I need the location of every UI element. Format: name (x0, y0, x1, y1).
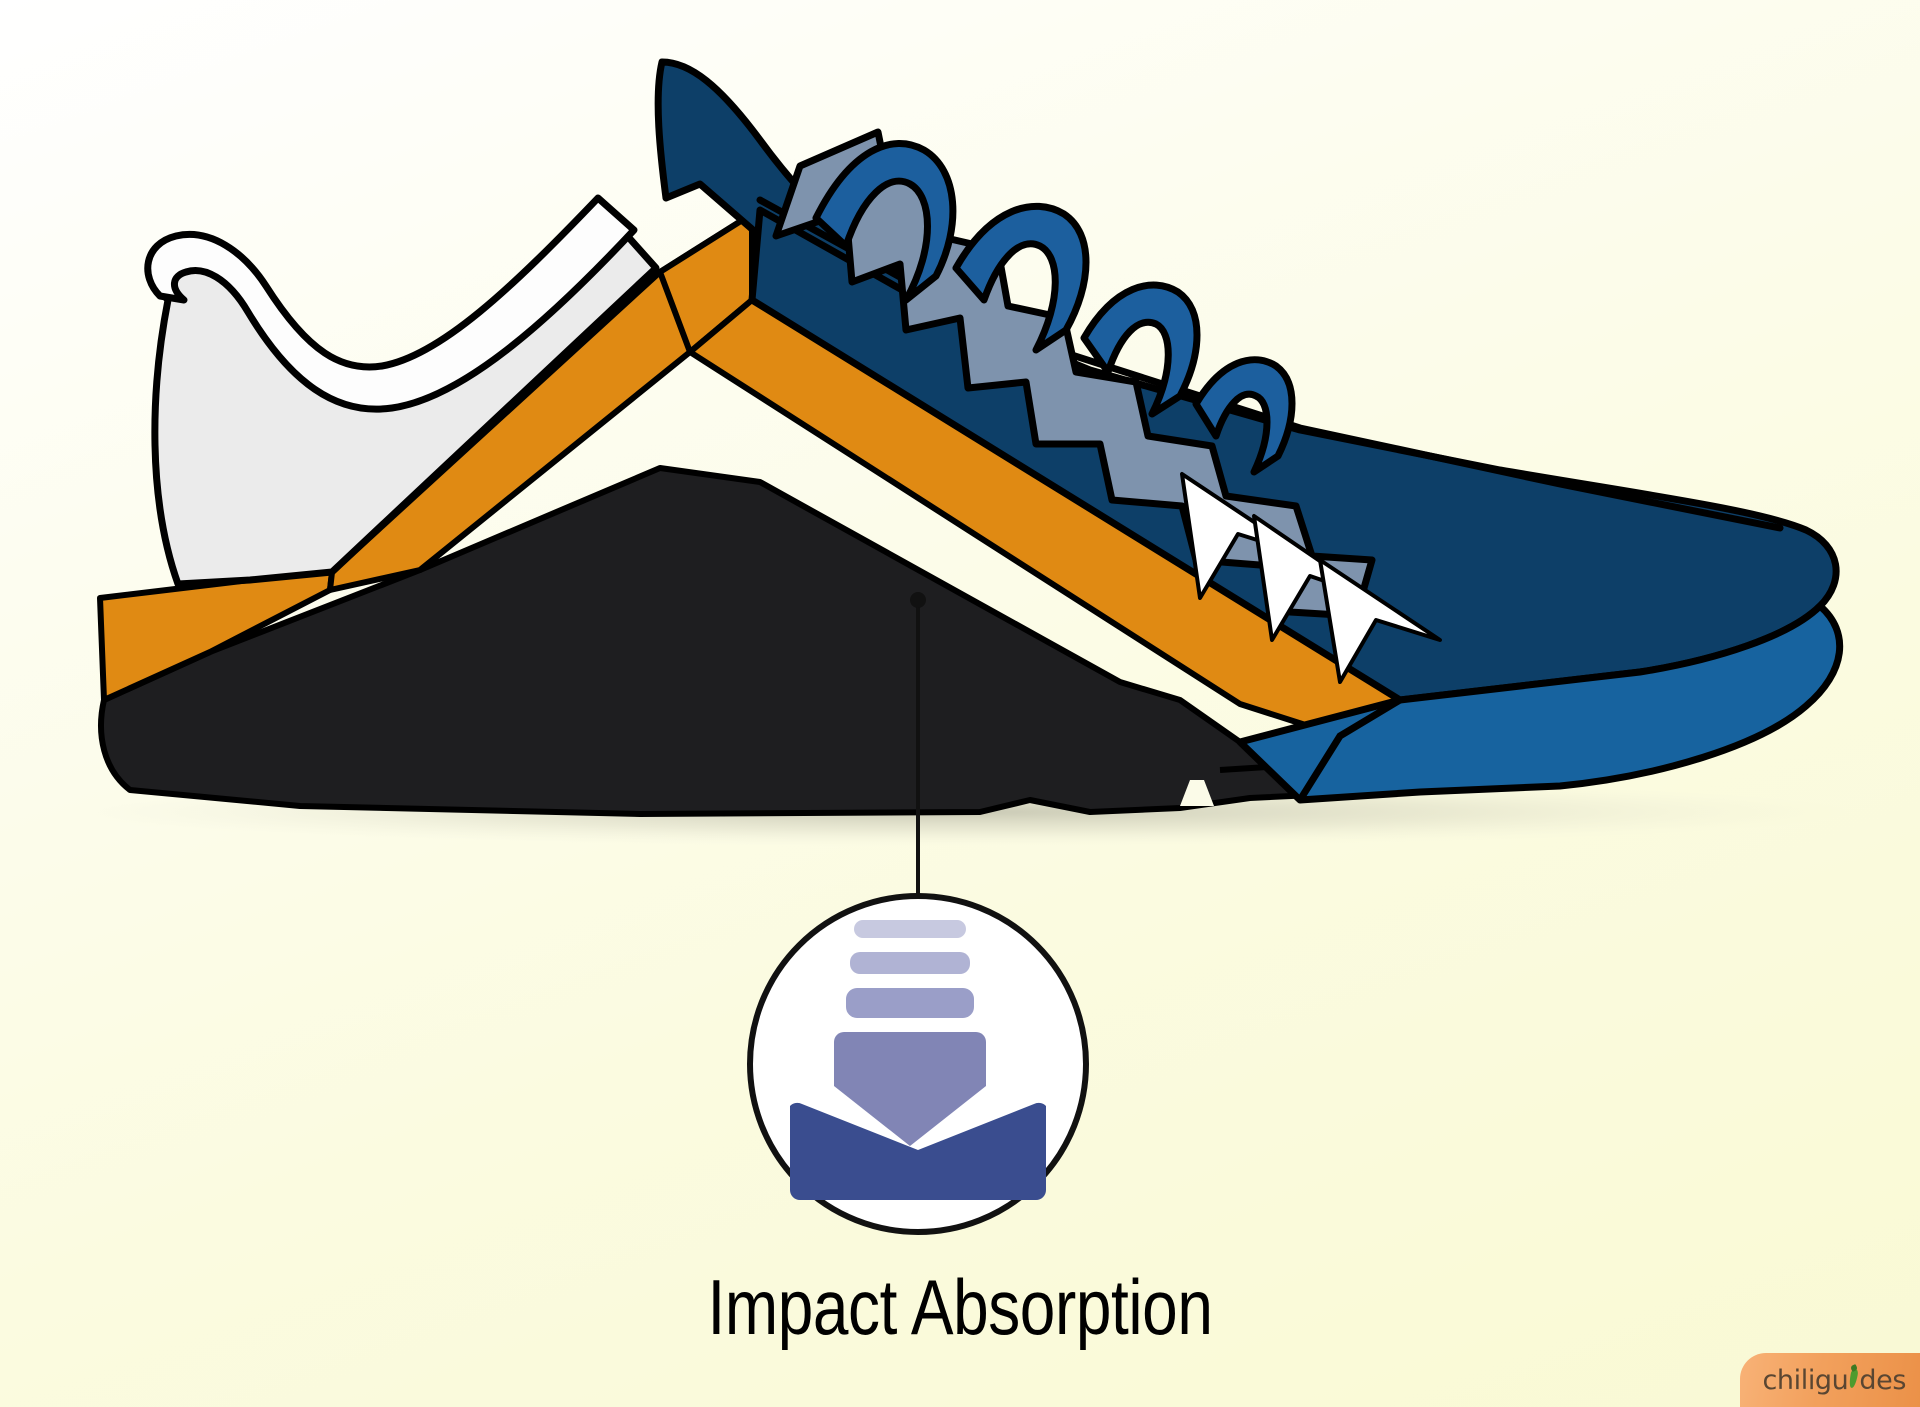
watermark-badge: chiligudes (1740, 1353, 1920, 1407)
icon-bar-1 (854, 920, 966, 938)
shoe-illustration (0, 0, 1920, 1407)
watermark-text: chiligudes (1762, 1365, 1906, 1396)
chili-pepper-icon (1849, 1365, 1858, 1389)
illustration-page: Impact Absorption chiligudes (0, 0, 1920, 1407)
watermark-text-after: des (1859, 1365, 1906, 1396)
icon-bar-2 (850, 952, 970, 974)
icon-bar-3 (846, 988, 974, 1018)
watermark-text-before: chiligu (1762, 1365, 1848, 1396)
